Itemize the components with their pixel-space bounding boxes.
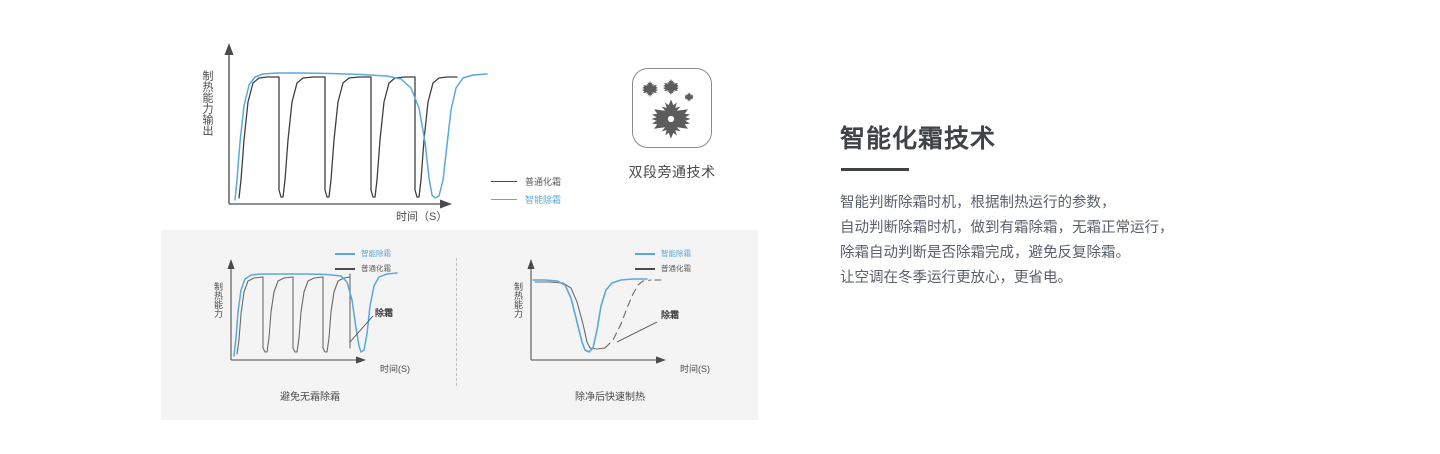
legend-item-smart-defrost: 智能除霜 xyxy=(335,246,435,261)
sub-chart-left-legend: 智能除霜 普通化霜 xyxy=(335,246,435,276)
feature-icon-label: 双段旁通技术 xyxy=(586,162,758,182)
legend-label-normal-defrost: 普通化霜 xyxy=(361,263,391,274)
main-chart-block: 制热能力输出 时间（S） 普通化霜 xyxy=(161,20,758,225)
sub-chart-left-caption: 避免无霜除霜 xyxy=(175,388,445,403)
legend-swatch-dark xyxy=(335,268,355,270)
title-underline-rule xyxy=(841,168,909,171)
body-line-2: 自动判断除霜时机，做到有霜除霜，无霜正常运行， xyxy=(840,216,1300,241)
legend-swatch-blue xyxy=(335,253,355,255)
feature-body-copy: 智能判断除霜时机，根据制热运行的参数， 自动判断除霜时机，做到有霜除霜，无霜正常… xyxy=(840,191,1300,291)
legend-label-smart-defrost: 智能除霜 xyxy=(361,248,391,259)
legend-swatch-dark xyxy=(491,181,517,182)
legend-item-normal-defrost: 普通化霜 xyxy=(335,261,435,276)
body-line-1: 智能判断除霜时机，根据制热运行的参数， xyxy=(840,191,1300,216)
page-title: 智能化霜技术 xyxy=(840,122,1300,156)
legend-swatch-blue xyxy=(491,199,517,200)
legend-label-smart-defrost: 智能除霜 xyxy=(661,248,691,259)
legend-item-smart-defrost: 智能除霜 xyxy=(635,246,735,261)
legend-label-normal-defrost: 普通化霜 xyxy=(661,263,691,274)
feature-description-panel: 智能化霜技术 智能判断除霜时机，根据制热运行的参数， 自动判断除霜时机，做到有霜… xyxy=(840,122,1300,291)
sub-chart-right-legend: 智能除霜 普通化霜 xyxy=(635,246,735,276)
sub-chart-right-caption: 除净后快速制热 xyxy=(475,388,745,403)
body-line-3: 除霜自动判断是否除霜完成，避免反复除霜。 xyxy=(840,241,1300,266)
legend-item-smart-defrost: 智能除霜 xyxy=(491,190,611,208)
feature-icon-card: 双段旁通技术 xyxy=(586,68,758,182)
legend-label-normal-defrost: 普通化霜 xyxy=(525,175,561,188)
snowflake-icon xyxy=(632,68,712,148)
legend-label-smart-defrost: 智能除霜 xyxy=(525,193,561,206)
main-chart: 制热能力输出 时间（S） 普通化霜 xyxy=(191,30,591,225)
defrost-illustration-panel: 制热能力输出 时间（S） 普通化霜 xyxy=(161,20,758,420)
sub-chart-fast-heating-after-defrost: 制热能力 时间(S) 除霜 智能除霜 xyxy=(475,230,745,420)
legend-swatch-blue xyxy=(635,253,655,255)
legend-item-normal-defrost: 普通化霜 xyxy=(635,261,735,276)
body-line-4: 让空调在冬季运行更放心，更省电。 xyxy=(840,266,1300,291)
sub-chart-avoid-frost-free-defrost: 制热能力 时间(S) 除霜 智能除霜 xyxy=(175,230,445,420)
legend-swatch-dark xyxy=(635,268,655,270)
sub-charts-divider xyxy=(456,258,457,386)
sub-charts-panel: 制热能力 时间(S) 除霜 智能除霜 xyxy=(161,230,758,420)
